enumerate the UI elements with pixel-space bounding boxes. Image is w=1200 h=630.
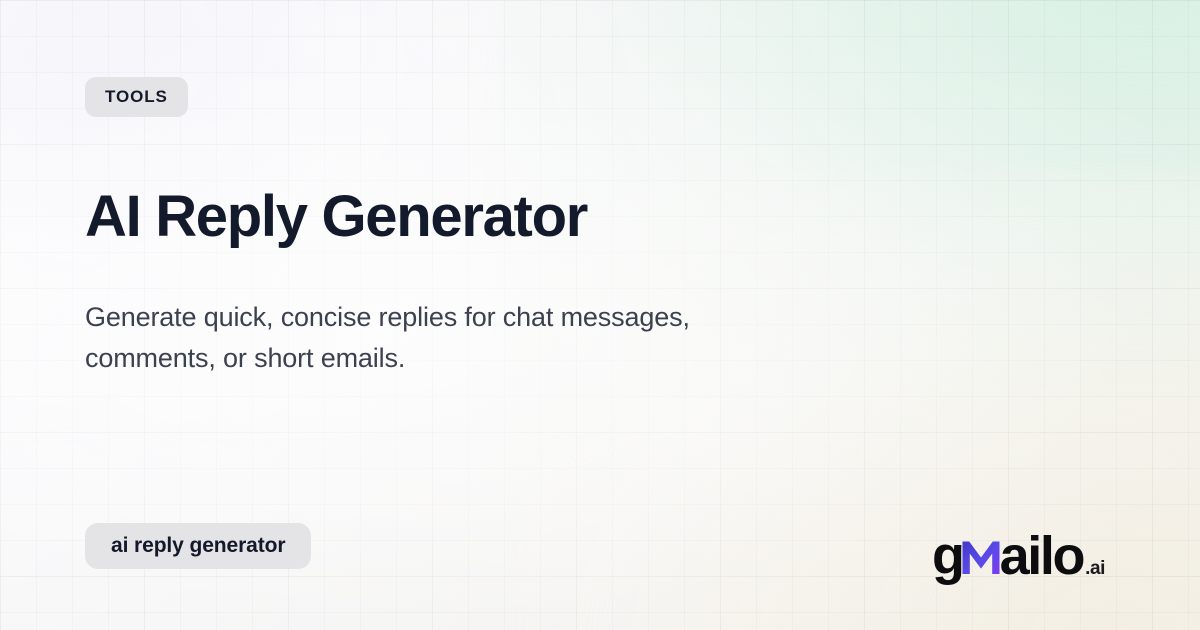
page-description: Generate quick, concise replies for chat… [85, 297, 825, 379]
page-title: AI Reply Generator [85, 186, 1085, 247]
card-content: TOOLS AI Reply Generator Generate quick,… [0, 0, 1200, 630]
brand-letter-g: g [932, 529, 963, 583]
category-badge-tools: TOOLS [85, 77, 188, 117]
brand-wordmark: g ailo .ai [932, 529, 1105, 583]
og-card: TOOLS AI Reply Generator Generate quick,… [0, 0, 1200, 630]
keyword-badge: ai reply generator [85, 523, 311, 569]
brand-letters-ailo: ailo [1000, 529, 1083, 583]
envelope-m-icon [961, 537, 1001, 575]
brand-logo: g ailo .ai [932, 529, 1105, 583]
brand-tld: .ai [1085, 559, 1105, 578]
